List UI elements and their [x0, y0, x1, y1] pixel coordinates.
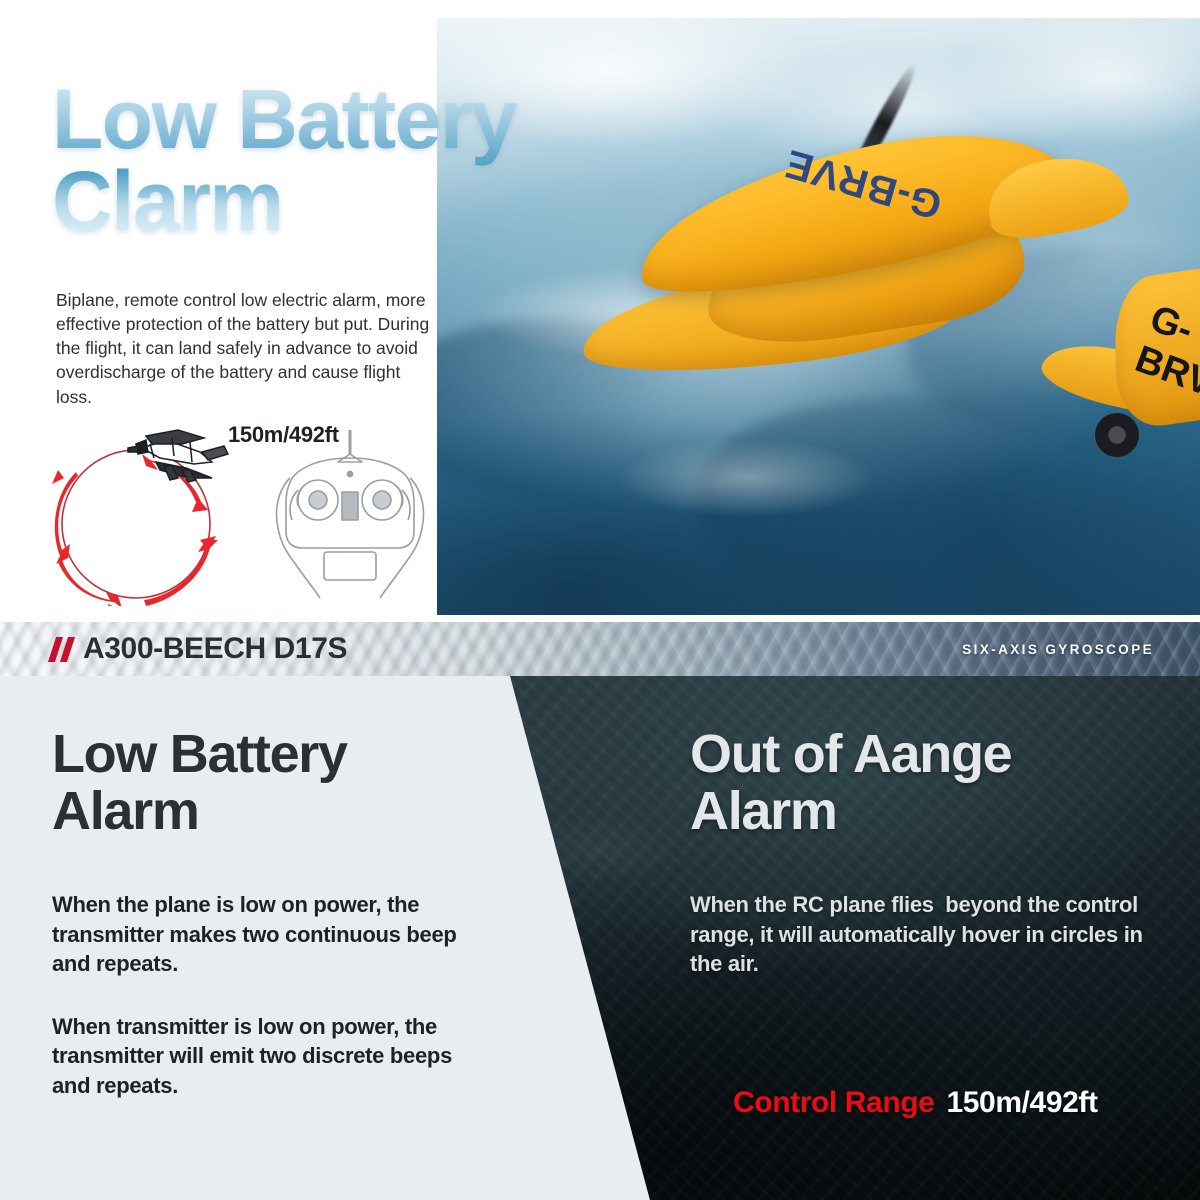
low-battery-alarm-block: Low Battery Alarm When the plane is low … [52, 726, 492, 1100]
low-battery-paragraph-1: When the plane is low on power, the tran… [52, 890, 492, 978]
out-of-range-heading-line-2: Alarm [690, 781, 837, 841]
low-battery-heading-line-1: Low Battery [52, 724, 347, 784]
out-of-range-alarm-block: Out of Aange Alarm When the RC plane fli… [690, 726, 1160, 978]
landing-gear-wheel [1092, 410, 1142, 460]
double-slash-icon [52, 637, 71, 662]
control-range-callout: Control Range 150m/492ft [733, 1086, 1098, 1120]
control-range-label: Control Range [733, 1086, 934, 1120]
model-name: A300-BEECH D17S [83, 632, 347, 666]
biplane-line-icon [116, 422, 234, 490]
low-battery-heading-line-2: Alarm [52, 781, 199, 841]
transmitter-with-hands-icon [268, 428, 433, 600]
texture-speck [520, 816, 680, 886]
range-diagram: 150m/492ft [40, 418, 440, 608]
out-of-range-paragraph: When the RC plane flies beyond the contr… [690, 890, 1160, 978]
top-feature-section: G-BRVE G-BRVE Low Battery Clarm Biplane,… [0, 0, 1200, 622]
lead-paragraph: Biplane, remote control low electric ala… [56, 288, 436, 409]
out-of-range-heading: Out of Aange Alarm [690, 726, 1160, 840]
page-title-line-1: Low Battery [52, 72, 516, 166]
page-title: Low Battery Clarm [52, 78, 692, 243]
low-battery-paragraph-2: When transmitter is low on power, the tr… [52, 1012, 492, 1100]
feature-tag: SIX-AXIS GYROSCOPE [962, 622, 1154, 676]
page-title-line-2: Clarm [52, 160, 692, 242]
bottom-comparison-section: Low Battery Alarm When the plane is low … [0, 676, 1200, 1200]
out-of-range-heading-line-1: Out of Aange [690, 724, 1011, 784]
control-range-value: 150m/492ft [946, 1086, 1097, 1120]
brand-identity: A300-BEECH D17S [52, 622, 347, 676]
brand-banner: A300-BEECH D17S SIX-AXIS GYROSCOPE [0, 622, 1200, 676]
low-battery-heading: Low Battery Alarm [52, 726, 492, 840]
